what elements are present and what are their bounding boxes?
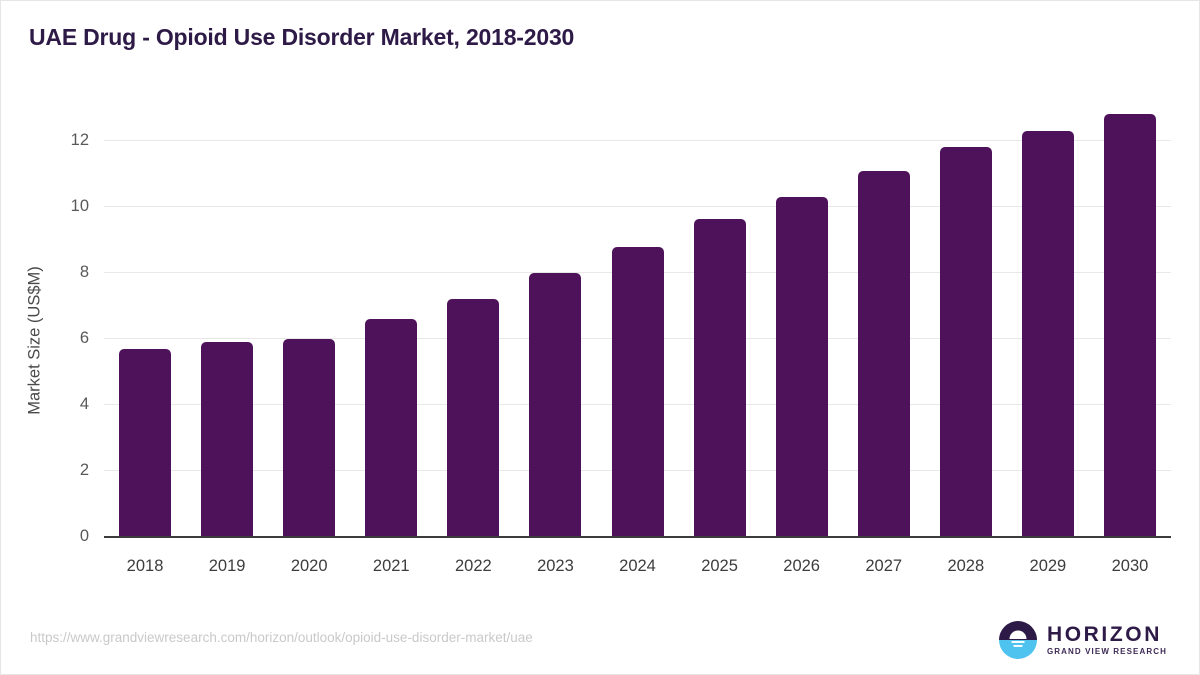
bar[interactable]: [694, 219, 746, 536]
x-tick-label: 2019: [186, 557, 268, 576]
source-url[interactable]: https://www.grandviewresearch.com/horizo…: [30, 630, 533, 645]
logo-wordmark: HORIZON GRAND VIEW RESEARCH: [1047, 624, 1167, 656]
chart-plot-area: Market Size (US$M) 024681012 20182019202…: [1, 1, 1200, 675]
x-tick-label: 2027: [843, 557, 925, 576]
y-tick-label: 12: [19, 131, 89, 150]
bar[interactable]: [201, 342, 253, 536]
x-axis-line: [104, 536, 1171, 538]
x-tick-label: 2026: [761, 557, 843, 576]
x-tick-label: 2029: [1007, 557, 1089, 576]
horizon-circle-icon: [998, 620, 1038, 660]
bar[interactable]: [858, 171, 910, 536]
bar[interactable]: [365, 319, 417, 536]
horizon-logo[interactable]: HORIZON GRAND VIEW RESEARCH: [998, 619, 1167, 661]
y-tick-label: 8: [19, 263, 89, 282]
bar[interactable]: [1104, 114, 1156, 536]
x-tick-label: 2020: [268, 557, 350, 576]
bar[interactable]: [940, 147, 992, 536]
bar-series: [104, 101, 1171, 536]
y-tick-label: 0: [19, 527, 89, 546]
logo-subtitle: GRAND VIEW RESEARCH: [1047, 648, 1167, 656]
x-tick-label: 2018: [104, 557, 186, 576]
bar[interactable]: [776, 197, 828, 536]
bar[interactable]: [1022, 131, 1074, 536]
x-tick-label: 2023: [514, 557, 596, 576]
x-tick-label: 2028: [925, 557, 1007, 576]
bar[interactable]: [283, 339, 335, 536]
x-tick-label: 2030: [1089, 557, 1171, 576]
y-tick-label: 6: [19, 329, 89, 348]
x-tick-label: 2022: [432, 557, 514, 576]
bar[interactable]: [529, 273, 581, 536]
x-tick-label: 2025: [679, 557, 761, 576]
x-tick-label: 2024: [597, 557, 679, 576]
bar[interactable]: [119, 349, 171, 536]
y-tick-label: 2: [19, 461, 89, 480]
y-tick-label: 4: [19, 395, 89, 414]
x-tick-label: 2021: [350, 557, 432, 576]
logo-word: HORIZON: [1047, 624, 1167, 645]
y-tick-label: 10: [19, 197, 89, 216]
bar[interactable]: [447, 299, 499, 536]
bar[interactable]: [612, 247, 664, 536]
chart-page: UAE Drug - Opioid Use Disorder Market, 2…: [0, 0, 1200, 675]
